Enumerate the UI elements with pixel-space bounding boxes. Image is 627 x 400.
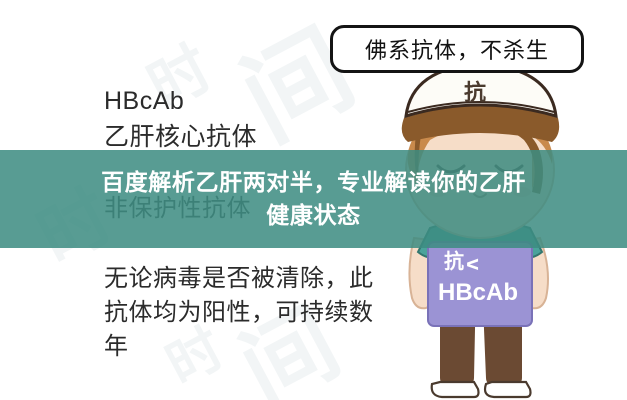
speech-bubble: 佛系抗体，不杀生 [330,25,584,73]
marker-title-text: HBcAb 乙肝核心抗体 [104,84,257,155]
overlay-banner-line-1: 百度解析乙肝两对半，专业解读你的乙肝 [101,166,526,199]
speech-bubble-text: 佛系抗体，不杀生 [365,33,549,65]
marker-description-text: 无论病毒是否被清除，此抗体均为阳性，可持续数年 [104,262,394,364]
apron-label-line1-mark: ᐸ [466,257,479,274]
hat-label: 抗 [464,80,486,105]
apron-label-line1: 抗 [444,249,464,273]
apron-label-line2: HBcAb [438,279,518,306]
shoe-right [485,382,531,397]
overlay-banner-line-2: 健康状态 [266,199,360,232]
overlay-banner: 百度解析乙肝两对半，专业解读你的乙肝 健康状态 [0,150,627,248]
shoe-left [432,382,479,397]
image-canvas: 间 时 间 时 时 HBcAb 乙肝核心抗体 非保护性抗体 无论病毒是否被清除，… [0,0,627,400]
